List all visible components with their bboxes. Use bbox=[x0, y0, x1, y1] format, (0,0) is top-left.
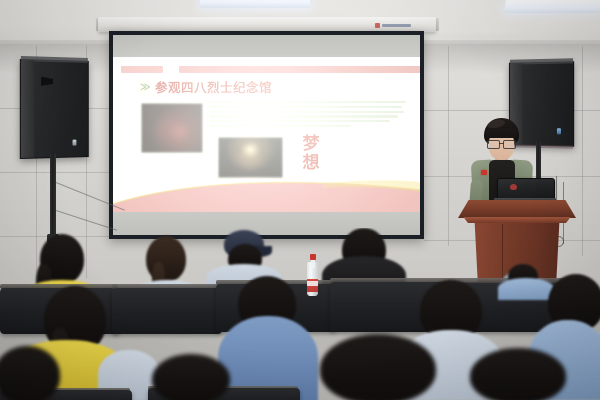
roller-brand-logo bbox=[375, 22, 411, 28]
screen-unlit-top bbox=[113, 35, 420, 57]
projection-screen: ≫ 参观四八烈士纪念馆 梦想 bbox=[109, 31, 424, 239]
text-line bbox=[209, 125, 351, 127]
water-bottle bbox=[307, 254, 318, 296]
bottle-neck bbox=[311, 260, 315, 268]
seat-back bbox=[112, 288, 222, 334]
podium-lip bbox=[460, 217, 574, 223]
presenter-badge bbox=[481, 170, 487, 175]
slide-top-bar-left bbox=[121, 66, 163, 73]
brand-text bbox=[382, 24, 411, 27]
wall-seam bbox=[448, 46, 449, 246]
audience bbox=[0, 228, 600, 400]
audience-front-2 bbox=[152, 354, 230, 400]
audience-front-3 bbox=[320, 334, 436, 400]
audience-front-4 bbox=[470, 348, 566, 400]
audience-shoulders-back-right bbox=[498, 278, 554, 300]
lecture-hall-photo: ≫ 参观四八烈士纪念馆 梦想 bbox=[0, 0, 600, 400]
podium-top bbox=[458, 200, 576, 218]
glasses-lens-left bbox=[487, 140, 500, 149]
speaker-horn-icon bbox=[41, 77, 53, 86]
presentation-slide: ≫ 参观四八烈士纪念馆 梦想 bbox=[113, 57, 420, 220]
speaker-led-indicator bbox=[73, 140, 77, 146]
text-line bbox=[209, 115, 398, 117]
slide-accent-word: 梦想 bbox=[295, 135, 327, 173]
ceiling-light-right bbox=[504, 0, 600, 13]
screen-surface: ≫ 参观四八烈士纪念馆 梦想 bbox=[113, 35, 420, 235]
text-line bbox=[209, 111, 404, 113]
ceiling-light-center bbox=[200, 0, 310, 8]
text-line bbox=[209, 101, 406, 103]
laptop-logo-icon bbox=[510, 184, 517, 190]
slide-title: 参观四八烈士纪念馆 bbox=[155, 79, 272, 96]
glasses-lens-right bbox=[503, 140, 516, 149]
bottle-cap bbox=[310, 254, 316, 260]
chevron-right-icon: ≫ bbox=[140, 82, 148, 93]
memorial-photo-left bbox=[141, 103, 203, 153]
speaker-side-panel bbox=[21, 60, 34, 158]
glasses-icon bbox=[487, 140, 516, 147]
slide-body-text bbox=[209, 101, 406, 133]
bottle-label-band bbox=[307, 281, 318, 286]
speaker-led-indicator bbox=[557, 128, 561, 134]
presenter-fringe bbox=[486, 128, 517, 138]
loudspeaker-left bbox=[20, 59, 89, 159]
wall-seam bbox=[582, 46, 583, 256]
slide-top-bar-right bbox=[179, 66, 420, 73]
brand-mark-icon bbox=[375, 23, 380, 28]
memorial-photo-center bbox=[218, 137, 283, 178]
text-line bbox=[209, 120, 390, 122]
text-line bbox=[209, 106, 402, 108]
